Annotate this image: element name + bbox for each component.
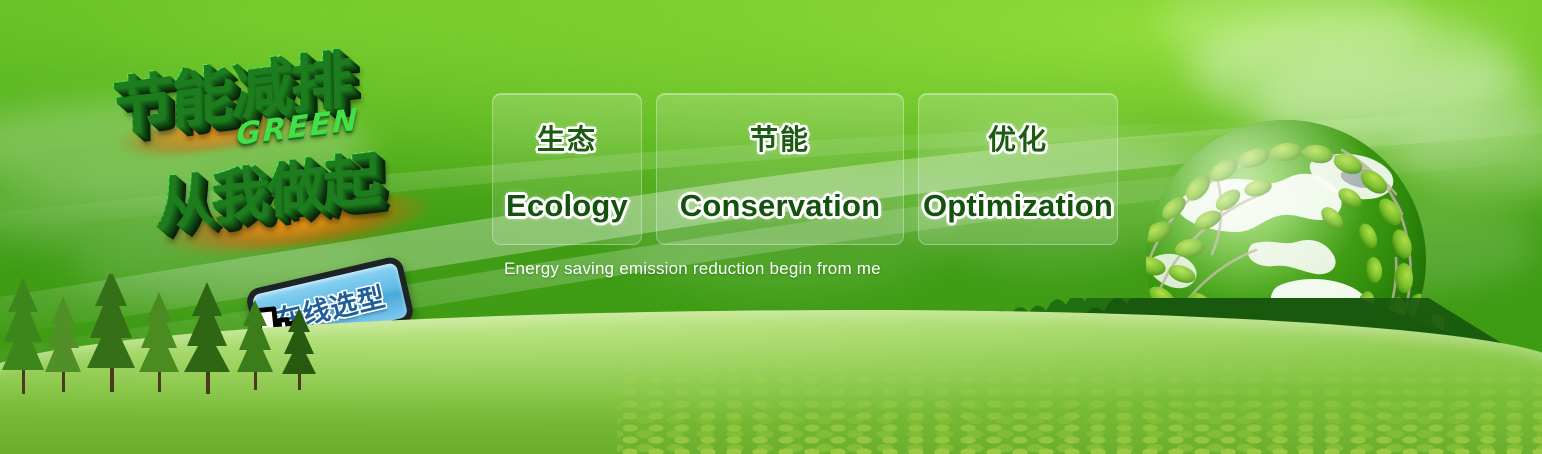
headline-glow xyxy=(109,109,311,163)
feature-card-cn-label: 节能 xyxy=(750,118,810,158)
feature-card-en-label: Conservation xyxy=(680,188,881,224)
feature-card-conservation[interactable]: 节能 Conservation xyxy=(656,93,904,245)
feature-card-list: 生态 Ecology 节能 Conservation 优化 Optimizati… xyxy=(492,93,1118,245)
feature-card-ecology[interactable]: 生态 Ecology xyxy=(492,93,642,245)
feature-card-optimization[interactable]: 优化 Optimization xyxy=(918,93,1118,245)
feature-card-en-label: Ecology xyxy=(506,188,628,224)
cloud-icon xyxy=(0,100,370,196)
headline-line-1: 节能减排 xyxy=(110,27,350,147)
headline-artwork: 节能减排 从我做起 GREEN xyxy=(96,36,496,266)
feature-card-cn-label: 优化 xyxy=(988,118,1048,158)
banner-tagline: Energy saving emission reduction begin f… xyxy=(504,259,881,279)
headline-glow xyxy=(145,188,448,264)
cloud-icon xyxy=(1160,0,1420,80)
green-energy-banner: 节能减排 从我做起 GREEN 在线选型 生态 Ecology 节能 Conse… xyxy=(0,0,1542,454)
feature-card-en-label: Optimization xyxy=(923,188,1113,224)
feature-card-cn-label: 生态 xyxy=(537,118,597,158)
headline-line-2: 从我做起 xyxy=(154,130,378,242)
fallen-leaves-icon xyxy=(617,350,1542,454)
headline-green-overlay: GREEN xyxy=(236,102,360,152)
cloud-icon xyxy=(0,180,290,252)
